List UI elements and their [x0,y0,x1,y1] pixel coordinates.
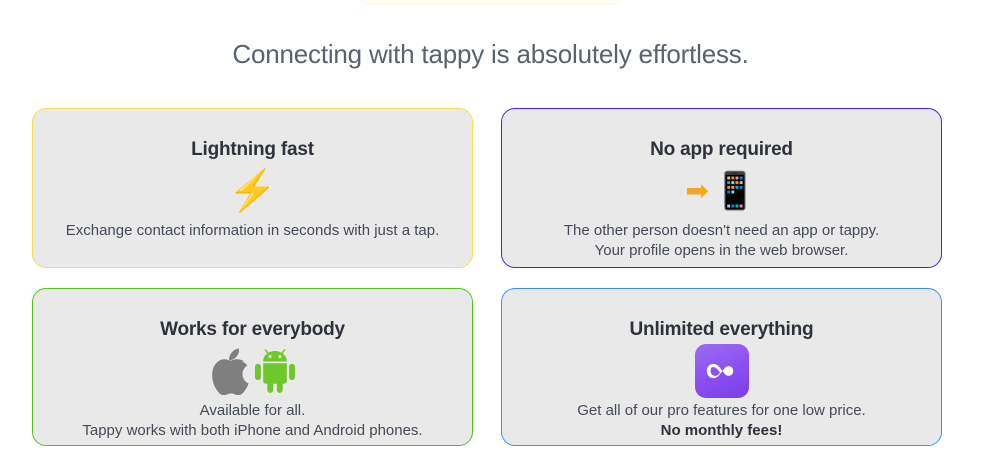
feature-cards-grid: Lightning fast ⚡ Exchange contact inform… [32,108,950,446]
feature-card-works-for-everybody: Works for everybody [32,288,473,446]
feature-card-body: Available for all. Tappy works with both… [68,401,436,441]
feature-card-body-line-1: Get all of our pro features for one low … [577,401,865,421]
icon-group: ➡ 📱 [685,163,757,219]
feature-card-lightning-fast: Lightning fast ⚡ Exchange contact inform… [32,108,473,268]
feature-card-body-line-2: Tappy works with both iPhone and Android… [82,421,422,441]
mobile-phone-icon: 📱 [713,173,758,209]
feature-card-body-line-2: Your profile opens in the web browser. [564,241,879,261]
top-panel-sliver [356,0,626,5]
feature-card-body: The other person doesn't need an app or … [550,221,893,261]
feature-card-title: Unlimited everything [630,320,814,339]
icon-group: ⚡ [228,163,278,219]
icon-group [695,343,749,399]
android-robot-icon [255,349,295,393]
feature-card-emphasis-line: No monthly fees! [577,421,865,441]
page-title: Connecting with tappy is absolutely effo… [0,39,981,70]
infinity-icon [695,344,749,398]
feature-card-title: No app required [650,140,793,159]
right-arrow-icon: ➡ [685,177,708,205]
feature-card-title: Works for everybody [160,320,345,339]
high-voltage-icon: ⚡ [228,171,278,211]
feature-card-body-line-1: Exchange contact information in seconds … [66,221,440,241]
feature-card-body-line-1: Available for all. [82,401,422,421]
feature-card-body: Get all of our pro features for one low … [563,401,879,441]
feature-card-body-line-1: The other person doesn't need an app or … [564,221,879,241]
feature-card-no-app-required: No app required ➡ 📱 The other person doe… [501,108,942,268]
feature-card-unlimited-everything: Unlimited everything Get all of our pro … [501,288,942,446]
apple-logo-icon [211,348,251,395]
feature-card-body: Exchange contact information in seconds … [52,221,454,241]
icon-group [211,343,295,399]
feature-card-title: Lightning fast [191,140,314,159]
